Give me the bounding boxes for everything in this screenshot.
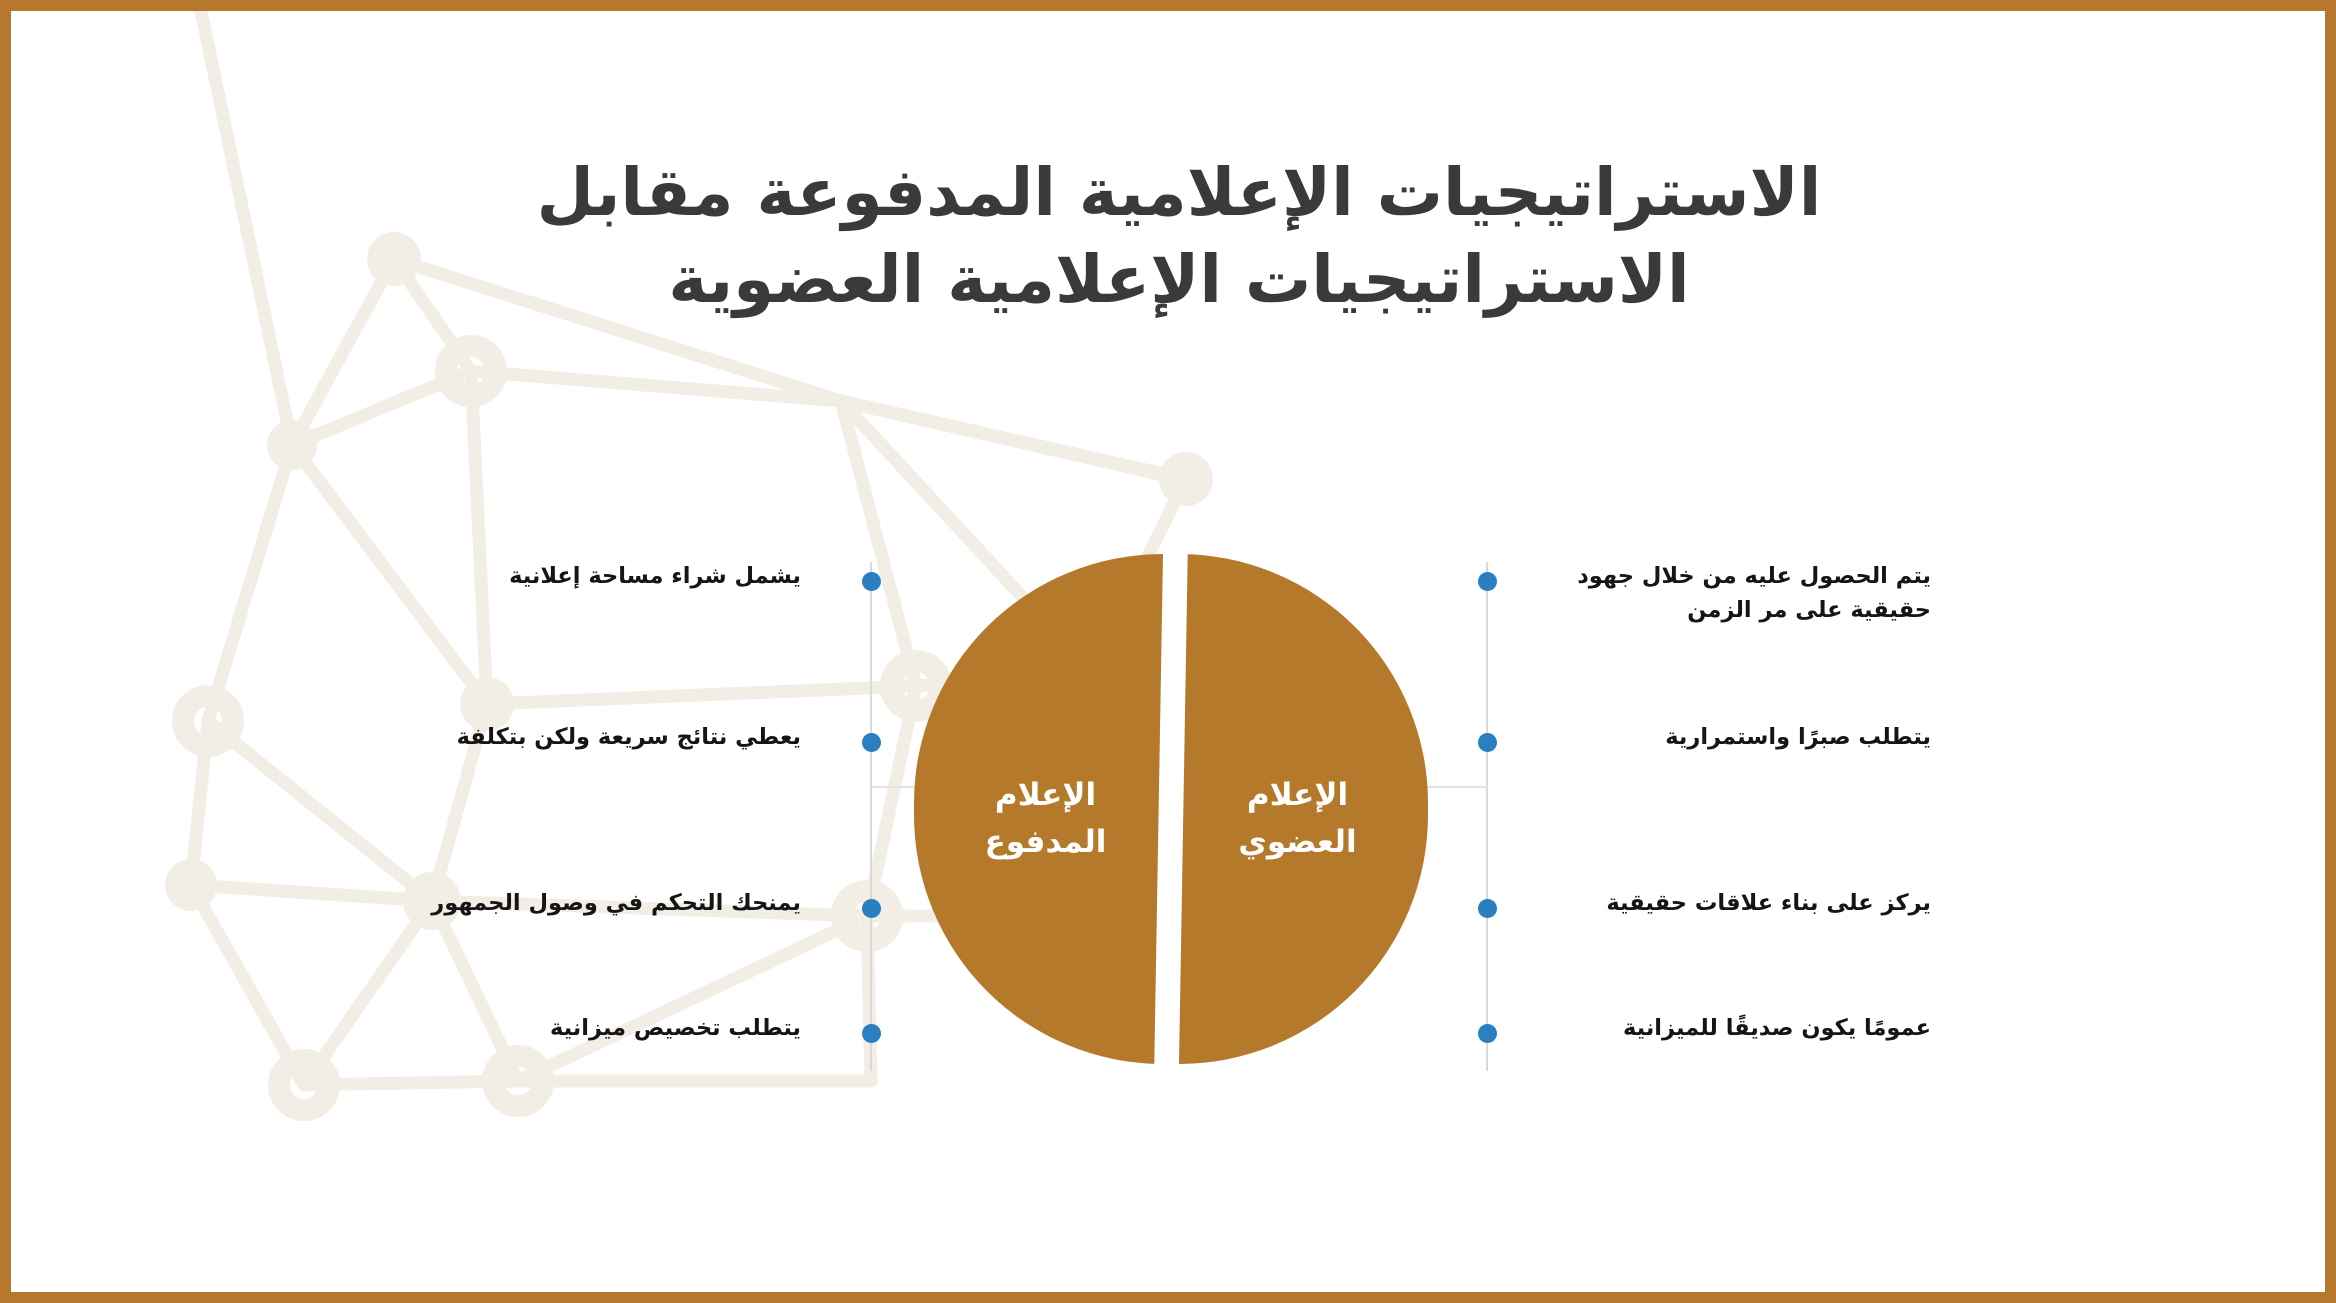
right-bullet-text-3: يركز على بناء علاقات حقيقية — [1536, 886, 1931, 920]
right-bullet-text-2: يتطلب صبرًا واستمرارية — [1536, 720, 1931, 754]
organic-media-half[interactable]: الإعلام العضوي — [1179, 554, 1428, 1064]
title-line-2: الاستراتيجيات الإعلامية العضوية — [11, 236, 2336, 323]
left-bullet-dot-4[interactable] — [862, 1024, 881, 1043]
left-bullet-text-2: يعطي نتائج سريعة ولكن بتكلفة — [371, 720, 801, 754]
paid-media-label: الإعلام المدفوع — [914, 772, 1163, 865]
organic-media-label-line-2: العضوي — [1179, 819, 1416, 866]
right-bullet-text-1: يتم الحصول عليه من خلال جهود حقيقية على … — [1536, 559, 1931, 627]
left-bullet-dot-1[interactable] — [862, 572, 881, 591]
right-spoke-connector — [1423, 786, 1487, 788]
left-bullet-text-3: يمنحك التحكم في وصول الجمهور — [371, 886, 801, 920]
title-line-1: الاستراتيجيات الإعلامية المدفوعة مقابل — [11, 149, 2336, 236]
slide-title: الاستراتيجيات الإعلامية المدفوعة مقابل ا… — [11, 149, 2336, 323]
right-bullet-dot-1[interactable] — [1478, 572, 1497, 591]
paid-media-label-line-2: المدفوع — [928, 819, 1163, 866]
paid-media-label-line-1: الإعلام — [995, 777, 1096, 813]
paid-media-half[interactable]: الإعلام المدفوع — [914, 554, 1163, 1064]
slide-canvas: الاستراتيجيات الإعلامية المدفوعة مقابل ا… — [0, 0, 2336, 1303]
split-circle-diagram: الإعلام المدفوع الإعلام العضوي — [914, 554, 1428, 1064]
left-rail-line — [870, 562, 872, 1071]
organic-media-label: الإعلام العضوي — [1179, 772, 1428, 865]
left-spoke-connector — [871, 786, 919, 788]
right-bullet-dot-3[interactable] — [1478, 899, 1497, 918]
left-bullet-text-1: يشمل شراء مساحة إعلانية — [371, 559, 801, 593]
right-bullet-text-4: عمومًا يكون صديقًا للميزانية — [1536, 1011, 1931, 1045]
left-bullet-text-4: يتطلب تخصيص ميزانية — [371, 1011, 801, 1045]
right-bullet-dot-4[interactable] — [1478, 1024, 1497, 1043]
right-bullet-dot-2[interactable] — [1478, 733, 1497, 752]
right-rail-line — [1486, 562, 1488, 1071]
left-bullet-dot-2[interactable] — [862, 733, 881, 752]
left-bullet-dot-3[interactable] — [862, 899, 881, 918]
organic-media-label-line-1: الإعلام — [1247, 777, 1348, 813]
